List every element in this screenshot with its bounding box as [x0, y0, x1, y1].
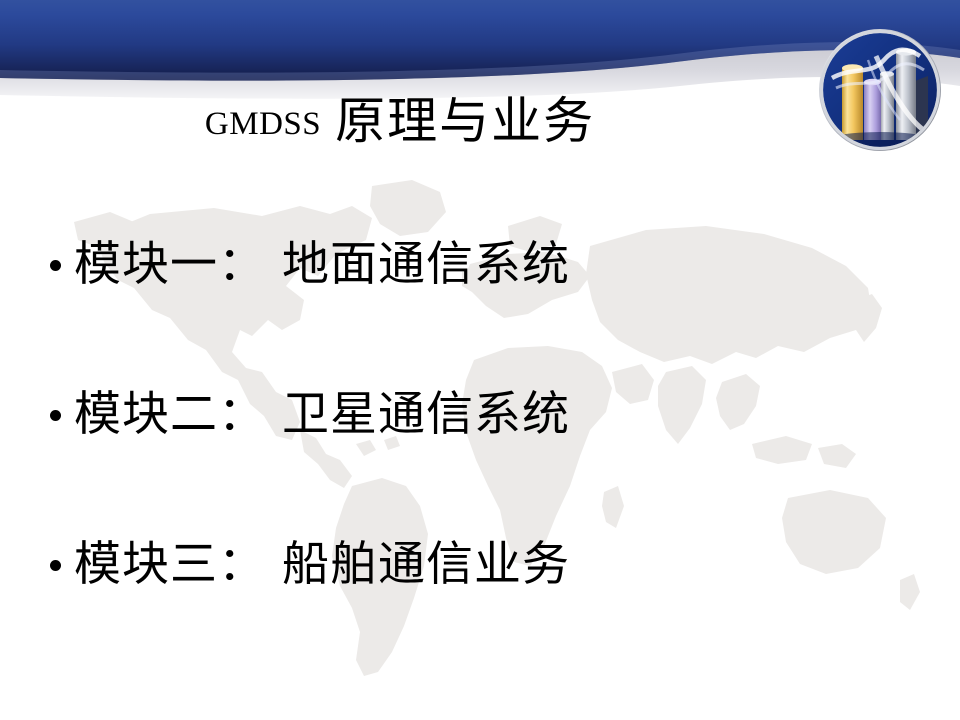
list-item: 模块一： 地面通信系统 — [44, 190, 924, 340]
round-bullet-icon — [44, 410, 74, 421]
title-cjk-part: 原理与业务 — [335, 96, 595, 146]
round-bullet-icon — [44, 260, 74, 271]
round-bullet-icon — [44, 560, 74, 571]
title-latin-part: GMDSS — [205, 108, 321, 141]
logo-yellow-cylinder — [842, 68, 863, 140]
logo-purple-cylinder — [864, 82, 881, 140]
list-item: 模块二： 卫星通信系统 — [44, 340, 924, 490]
circular-emblem-logo — [816, 26, 944, 154]
presentation-slide: GMDSS 原理与业务 模块一： 地面通信系统 模块二： 卫星通信系统 模块三：… — [0, 0, 960, 720]
list-item-label: 模块二： 卫星通信系统 — [74, 390, 570, 439]
slide-title: GMDSS 原理与业务 — [0, 80, 800, 144]
list-item-label: 模块一： 地面通信系统 — [74, 240, 570, 289]
module-bullet-list: 模块一： 地面通信系统 模块二： 卫星通信系统 模块三： 船舶通信业务 — [44, 190, 924, 640]
list-item-label: 模块三： 船舶通信业务 — [74, 540, 570, 589]
list-item: 模块三： 船舶通信业务 — [44, 490, 924, 640]
